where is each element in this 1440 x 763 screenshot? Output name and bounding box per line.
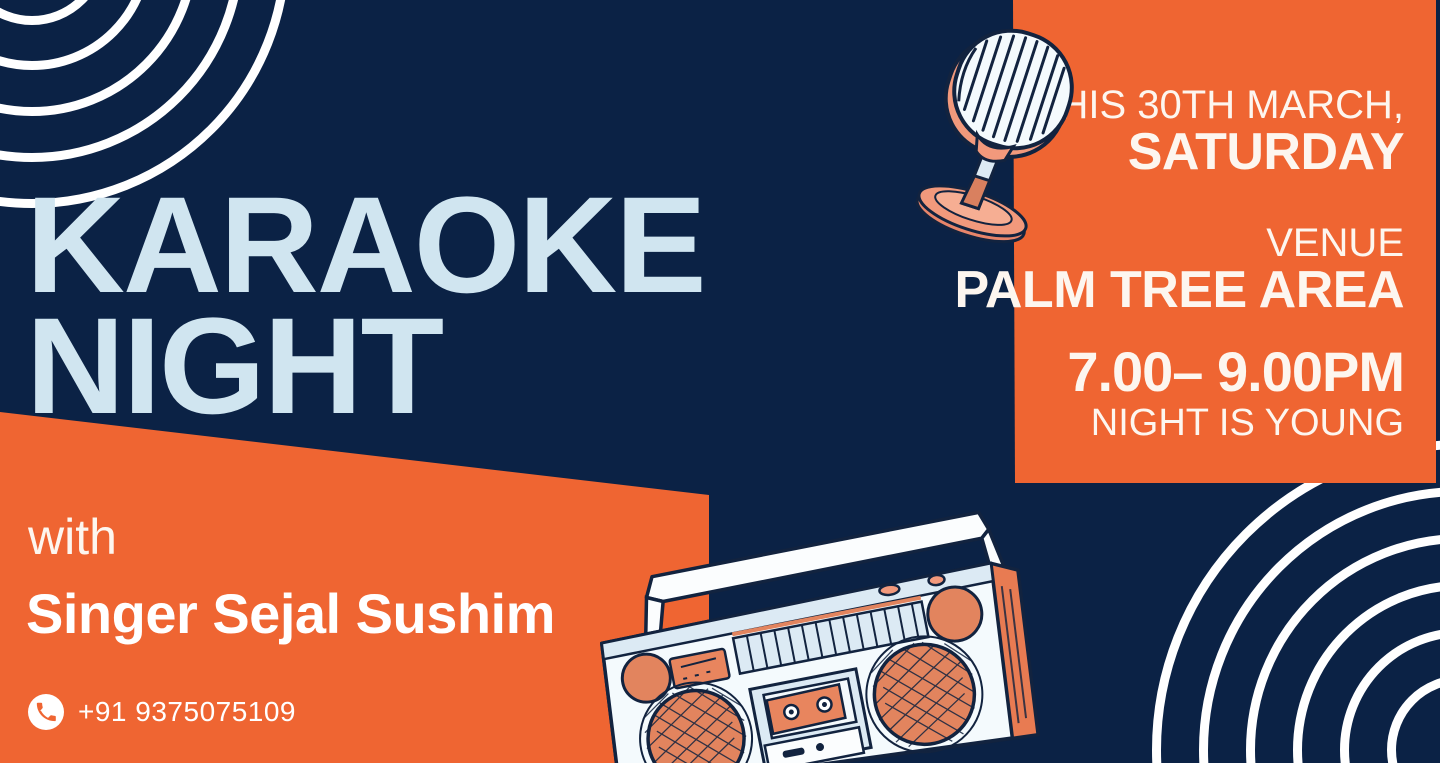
with-label-wrap: with: [28, 512, 117, 562]
event-time: 7.00– 9.00PM NIGHT IS YOUNG: [1067, 344, 1404, 448]
phone-icon: [28, 694, 64, 730]
page-title: KARAOKE NIGHT: [26, 186, 705, 427]
contact-row[interactable]: +91 9375075109: [28, 694, 296, 730]
retro-boombox-icon: [596, 498, 1056, 763]
title-line-1: KARAOKE: [26, 186, 705, 307]
time-range: 7.00– 9.00PM: [1067, 344, 1404, 400]
venue-name: PALM TREE AREA: [955, 264, 1404, 316]
performer-name: Singer Sejal Sushim: [26, 586, 555, 642]
title-line-2: NIGHT: [26, 307, 705, 428]
with-label: with: [28, 512, 117, 562]
phone-number: +91 9375075109: [78, 696, 296, 728]
retro-microphone-icon: [905, 14, 1085, 250]
time-tagline: NIGHT IS YOUNG: [1067, 400, 1404, 448]
karaoke-night-poster: KARAOKE NIGHT with Singer Sejal Sushim +…: [0, 0, 1440, 763]
